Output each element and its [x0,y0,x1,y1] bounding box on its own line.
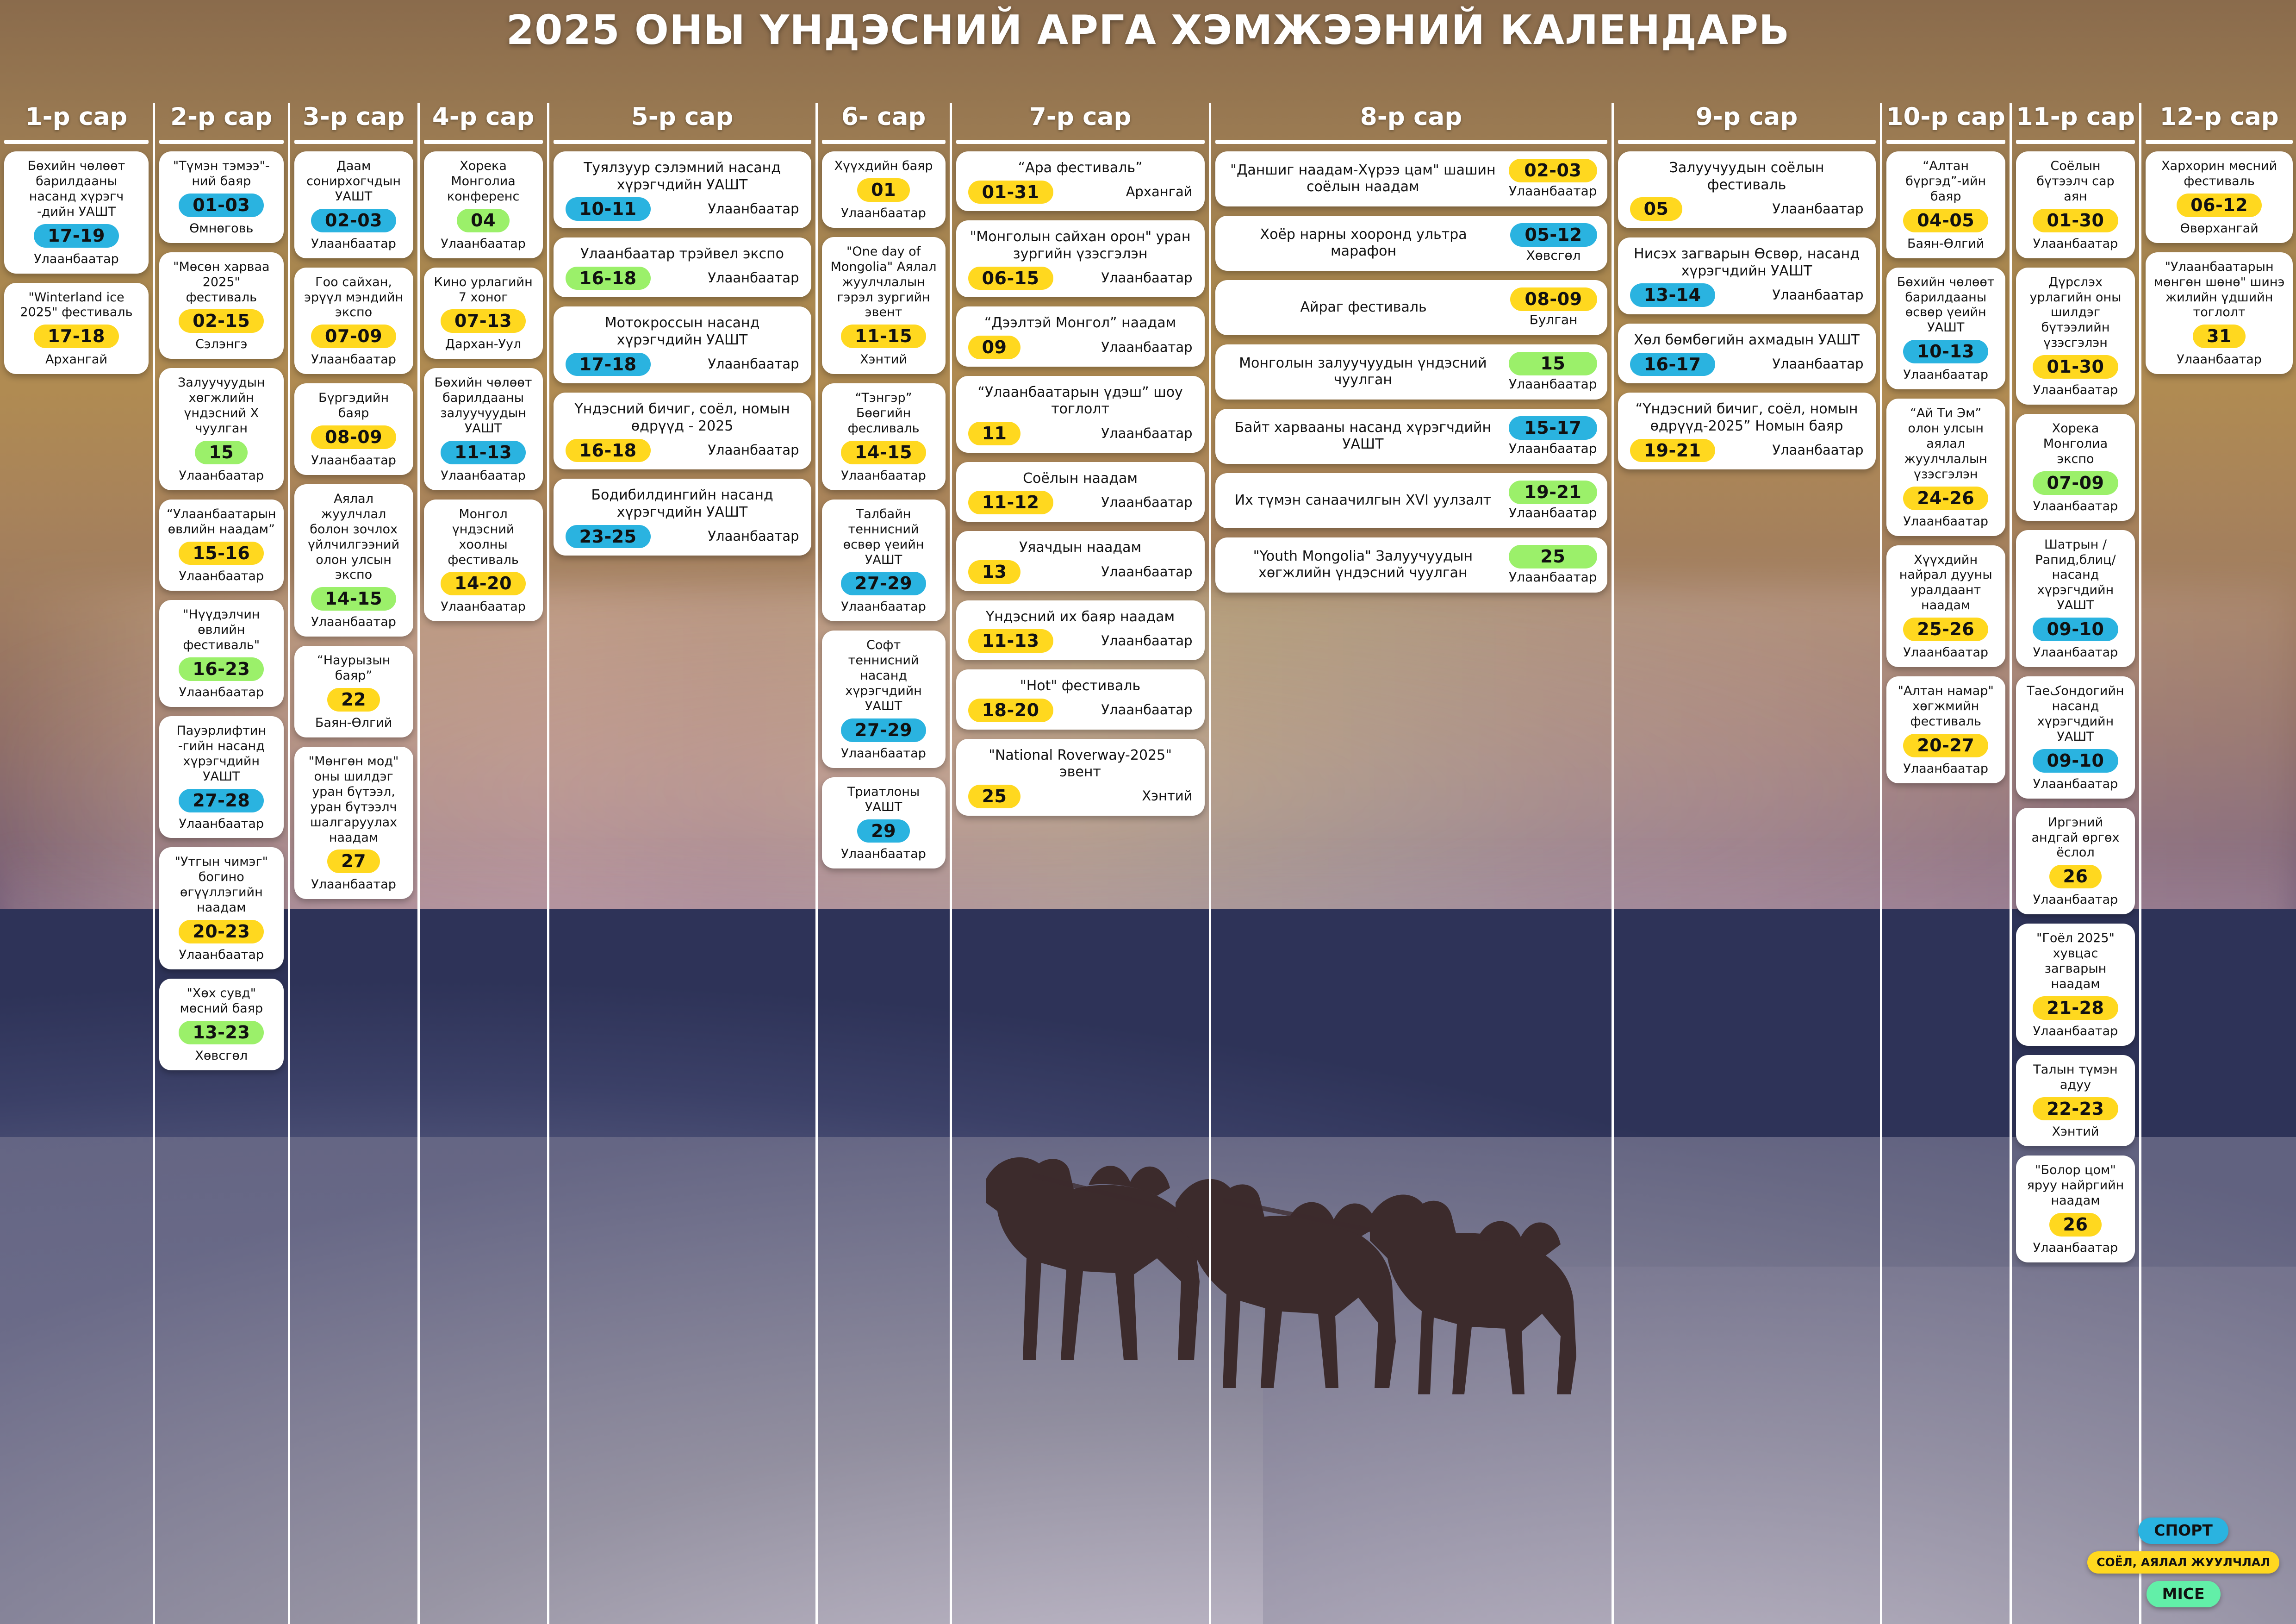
event-location: Улаанбаатар [1101,270,1192,286]
month-events-list: Даам сонирхогчдын УАШТ02-03УлаанбаатарГо… [294,151,413,899]
event-card[interactable]: Талын түмэн адуу22-23Хэнтий [2016,1055,2135,1147]
event-date-badge: 02-03 [1509,159,1597,182]
event-date-badge: 09-10 [2033,749,2118,773]
event-date-badge: 14-20 [441,572,526,595]
event-name: Хорека Монголиа конференс [431,159,535,205]
event-name: Бөхийн чөлөөт барилдааны насанд хүрэгч -… [12,159,141,220]
month-header-1: 1-р сар [4,103,149,137]
event-name: "Даншиг наадам-Хүрээ цам" шашин соёлын н… [1226,162,1501,196]
event-name: Их түмэн санаачилгын XVI уулзалт [1226,492,1501,509]
event-card[interactable]: "Алтан намар" хөгжмийн фестиваль20-27Ула… [1886,676,2005,783]
month-events-list: Соёлын бүтээлч сар аян01-30УлаанбаатарДү… [2016,151,2135,1262]
event-date-badge: 10-13 [1903,340,1988,363]
event-date-badge: 01-30 [2033,355,2118,379]
event-name: "Мөнгөн мод" оны шилдэг уран бүтээл, ура… [302,754,406,846]
month-header-4: 4-р сар [424,103,543,137]
event-date-badge: 04-05 [1903,209,1988,232]
event-date-badge: 26 [2049,865,2102,888]
event-card[interactable]: Бөхийн чөлөөт барилдааны өсвөр үеийн УАШ… [1886,268,2005,390]
event-date-badge: 07-09 [311,325,396,348]
month-header-8: 8-р сар [1215,103,1607,137]
event-location: Өмнөговь [167,221,276,237]
event-name: Кино урлагийн 7 хоног [431,275,535,306]
event-name: "Hot" фестиваль [968,678,1193,695]
event-card[interactable]: Дүрслэх урлагийн оны шилдэг бүтээлийн үз… [2016,268,2135,405]
event-card[interactable]: "National Roverway-2025" эвент25Хэнтий [956,739,1205,816]
event-card[interactable]: Иргэний андгай өргөх ёслол26Улаанбаатар [2016,808,2135,915]
month-column-4: 4-р сарХорека Монголиа конференс04Улаанб… [417,103,547,1624]
event-date-badge: 20-27 [1903,734,1988,757]
event-card[interactable]: “Дээлтэй Монгол” наадам09Улаанбаатар [956,306,1205,366]
event-date-badge: 13-23 [179,1021,264,1044]
event-date-badge: 02-03 [311,209,396,232]
event-name: Нисэх загварын Өсвөр, насанд хүрэгчдийн … [1630,246,1864,280]
event-location: Улаанбаатар [829,847,938,862]
event-card[interactable]: Кино урлагийн 7 хоног07-13Дархан-Уул [424,268,543,359]
event-name: Үндэсний их баяр наадам [968,609,1193,626]
event-card[interactable]: Даам сонирхогчдын УАШТ02-03Улаанбаатар [294,151,413,258]
event-date-badge: 27-28 [179,789,264,812]
event-card[interactable]: "One day of Mongolia" Аялал жуулчлалын г… [822,237,946,374]
event-date-badge: 22 [327,688,380,712]
event-name: “Үндэсний бичиг, соёл, номын өдрүүд-2025… [1630,401,1864,435]
event-location: Улаанбаатар [708,356,799,372]
month-header-divider [159,140,284,144]
event-name: "Алтан намар" хөгжмийн фестиваль [1894,684,1998,730]
month-header-5: 5-р сар [554,103,811,137]
month-header-divider [956,140,1205,144]
event-card[interactable]: Үндэсний их баяр наадам11-13Улаанбаатар [956,600,1205,660]
event-date-badge: 11-13 [441,441,526,464]
month-header-divider [1215,140,1607,144]
event-card[interactable]: Хүүхдийн баяр01Улаанбаатар [822,151,946,228]
event-card[interactable]: Триатлоны УАШТ29Улаанбаатар [822,777,946,869]
month-header-7: 7-р сар [956,103,1205,137]
event-location: Улаанбаатар [1894,514,1998,530]
event-name: "Түмэн тэмээ"-ний баяр [167,159,276,189]
month-column-7: 7-р сар“Ара фестиваль”01-31Архангай"Монг… [950,103,1209,1624]
month-header-divider [1618,140,1876,144]
event-location: Улаанбаатар [167,948,276,963]
event-date-badge: 19-21 [1630,439,1715,462]
event-date-badge: 18-20 [968,699,1053,722]
event-date-badge: 05-12 [1510,223,1597,247]
event-location: Улаанбаатар [1772,201,1863,217]
event-name: “Ара фестиваль” [968,160,1193,177]
month-header-divider [1886,140,2005,144]
event-name: Байт харвааны насанд хүрэгчдийн УАШТ [1226,419,1501,453]
event-card[interactable]: Байт харвааны насанд хүрэгчдийн УАШТ15-1… [1215,409,1607,464]
event-card[interactable]: Хорека Монголиа конференс04Улаанбаатар [424,151,543,258]
event-card[interactable]: Залуучуудын хөгжлийн үндэсний X чуулган1… [159,368,284,490]
event-location: Улаанбаатар [1509,569,1597,585]
event-location: Улаанбаатар [302,237,406,252]
event-location: Улаанбаатар [2023,237,2128,252]
event-location: Улаанбаатар [1772,356,1863,372]
event-location: Улаанбаатар [2023,1024,2128,1039]
event-name: Залуучуудын хөгжлийн үндэсний X чуулган [167,375,276,437]
event-location: Өвөрхангай [2153,221,2285,237]
event-name: Монголын залуучуудын үндэсний чуулган [1226,355,1501,389]
event-location: Улаанбаатар [2023,893,2128,908]
event-date-badge: 27-29 [841,718,926,742]
event-date-badge: 16-17 [1630,353,1715,376]
event-date-badge: 14-15 [311,587,396,611]
event-location: Хэнтий [2023,1124,2128,1140]
event-card[interactable]: “Үндэсний бичиг, соёл, номын өдрүүд-2025… [1618,393,1876,469]
event-date-badge: 05 [1630,197,1683,221]
event-name: Уяачдын наадам [968,539,1193,556]
month-header-6: 6- сар [822,103,946,137]
month-events-list: Хархорин мөсний фестиваль06-12Өвөрхангай… [2146,151,2293,374]
event-card[interactable]: Мотокроссын насанд хүрэгчдийн УАШТ17-18У… [554,306,811,383]
event-location: Улаанбаатар [708,528,799,544]
event-card[interactable]: "Хөх сувд" мөсний баяр13-23Хөвсгөл [159,979,284,1070]
event-location: Улаанбаатар [302,615,406,630]
event-name: Хорека Монголиа экспо [2023,421,2128,467]
event-card[interactable]: "Youth Mongolia" Залуучуудын хөгжлийн үн… [1215,537,1607,593]
event-name: "National Roverway-2025" эвент [968,747,1193,781]
event-card[interactable]: Монгол үндэсний хоолны фестиваль14-20Ула… [424,500,543,622]
event-location: Улаанбаатар [1101,564,1192,580]
event-date-badge: 06-12 [2177,194,2262,217]
month-column-5: 5-р сарТуялзуур сэлэмний насанд хүрэгчди… [547,103,815,1624]
event-card[interactable]: Монголын залуучуудын үндэсний чуулган15У… [1215,344,1607,400]
month-header-divider [424,140,543,144]
event-date-badge: 15-16 [179,542,264,565]
event-location: Улаанбаатар [1772,287,1863,303]
event-card[interactable]: Хөл бөмбөгийн ахмадын УАШТ16-17Улаанбаат… [1618,324,1876,383]
event-date-badge: 16-23 [179,657,264,681]
event-date-badge: 25 [968,785,1021,808]
month-header-11: 11-р сар [2016,103,2135,137]
event-location: Улаанбаатар [302,453,406,468]
event-date-badge: 15-17 [1509,416,1597,440]
event-location: Улаанбаатар [2023,645,2128,661]
event-date-badge: 13 [968,560,1021,584]
event-location: Улаанбаатар [2153,352,2285,368]
event-date-badge: 01-31 [968,181,1053,204]
event-card[interactable]: "Нүүдэлчин өвлийн фестиваль"16-23Улаанба… [159,600,284,707]
event-date-badge: 17-18 [566,353,651,376]
event-location: Улаанбаатар [1894,645,1998,661]
event-date-badge: 19-21 [1509,481,1597,504]
event-location: Улаанбаатар [829,746,938,762]
event-card[interactable]: Хорека Монголиа экспо07-09Улаанбаатар [2016,414,2135,521]
event-location: Улаанбаатар [12,252,141,267]
event-card[interactable]: “Ара фестиваль”01-31Архангай [956,151,1205,211]
event-card[interactable]: Хархорин мөсний фестиваль06-12Өвөрхангай [2146,151,2293,243]
event-name: Талын түмэн адуу [2023,1062,2128,1093]
event-date-badge: 15 [1509,352,1597,375]
event-location: Архангай [12,352,141,368]
month-header-divider [2146,140,2293,144]
event-location: Улаанбаатар [708,201,799,217]
event-location: Хэнтий [1142,788,1192,804]
event-card[interactable]: “Тэнгэр” Бөөгийн фесливаль14-15Улаанбаат… [822,383,946,490]
event-location: Улаанбаатар [1894,762,1998,777]
event-date-badge: 07-13 [441,309,526,333]
event-card[interactable]: "Монголын сайхан орон" уран зургийн үзэс… [956,220,1205,297]
event-name: Талбайн теннисний өсвөр үеийн УАШТ [829,507,938,568]
event-card[interactable]: “Ай Ти Эм” олон улсын аялал жуулчлалын ү… [1886,399,2005,536]
month-header-divider [4,140,149,144]
legend: СПОРТСОЁЛ, АЯЛАЛ ЖУУЛЧЛАЛMICE [2087,1518,2279,1607]
event-location: Улаанбаатар [708,442,799,458]
event-date-badge: 22-23 [2033,1097,2118,1121]
event-card[interactable]: Аялал жуулчлал болон зочлох үйлчилгээний… [294,484,413,637]
event-card[interactable]: Туялзуур сэлэмний насанд хүрэгчдийн УАШТ… [554,151,811,228]
event-date-badge: 23-25 [566,525,651,549]
month-header-divider [822,140,946,144]
event-name: “Улаанбаатарын өвлийн наадам” [167,507,276,537]
event-card[interactable]: Уяачдын наадам13Улаанбаатар [956,531,1205,591]
event-location: Сэлэнгэ [167,337,276,352]
event-card[interactable]: “Алтан бүргэд”-ийн баяр04-05Баян-Өлгий [1886,151,2005,258]
event-card[interactable]: Улаанбаатар трэйвел экспо16-18Улаанбаата… [554,237,811,297]
event-date-badge: 20-23 [179,920,264,943]
event-location: Улаанбаатар [2023,383,2128,398]
event-name: Мотокроссын насанд хүрэгчдийн УАШТ [566,315,799,349]
event-name: “Наурызын баяр” [302,653,406,684]
event-name: Бөхийн чөлөөт барилдааны залуучуудын УАШ… [431,375,535,437]
event-date-badge: 11 [968,422,1021,445]
event-name: “Ай Ти Эм” олон улсын аялал жуулчлалын ү… [1894,406,1998,482]
month-events-list: “Ара фестиваль”01-31Архангай"Монголын са… [956,151,1205,816]
event-name: "Winterland ice 2025" фестиваль [12,290,141,321]
event-card[interactable]: Соёлын бүтээлч сар аян01-30Улаанбаатар [2016,151,2135,258]
event-card[interactable]: Таеکондогийн насанд хүрэгчдийн УАШТ09-10… [2016,676,2135,799]
event-location: Улаанбаатар [431,600,535,615]
month-header-3: 3-р сар [294,103,413,137]
event-name: Үндэсний бичиг, соёл, номын өдрүүд - 202… [566,401,799,435]
event-date-badge: 07-09 [2033,471,2118,495]
event-card[interactable]: Шатрын /Рапид,блиц/ насанд хүрэгчдийн УА… [2016,530,2135,667]
event-name: “Тэнгэр” Бөөгийн фесливаль [829,391,938,437]
event-location: Улаанбаатар [1101,633,1192,649]
month-events-list: Залуучуудын соёлын фестиваль05Улаанбаата… [1618,151,1876,469]
event-date-badge: 16-18 [566,267,651,290]
event-location: Улаанбаатар [1772,442,1863,458]
event-date-badge: 06-15 [968,267,1053,290]
event-card[interactable]: "Улаанбаатарын мөнгөн шөнө" шинэ жилийн … [2146,252,2293,375]
event-location: Улаанбаатар [1509,183,1597,199]
month-header-10: 10-р сар [1886,103,2005,137]
event-location: Улаанбаатар [1101,494,1192,511]
month-events-list: Хүүхдийн баяр01Улаанбаатар"One day of Mo… [822,151,946,868]
event-date-badge: 17-19 [34,224,119,248]
event-name: Таеکондогийн насанд хүрэгчдийн УАШТ [2023,684,2128,745]
event-location: Улаанбаатар [431,468,535,484]
month-column-9: 9-р сарЗалуучуудын соёлын фестиваль05Ула… [1612,103,1880,1624]
event-date-badge: 24-26 [1903,487,1988,510]
event-location: Улаанбаатар [1101,339,1192,356]
month-events-list: "Даншиг наадам-Хүрээ цам" шашин соёлын н… [1215,151,1607,593]
event-date-badge: 01-03 [179,194,264,217]
page-title: 2025 ОНЫ ҮНДЭСНИЙ АРГА ХЭМЖЭЭНИЙ КАЛЕНДА… [0,6,2296,54]
month-header-12: 12-р сар [2146,103,2293,137]
event-card[interactable]: Нисэх загварын Өсвөр, насанд хүрэгчдийн … [1618,237,1876,314]
month-events-list: Хорека Монголиа конференс04УлаанбаатарКи… [424,151,543,621]
event-location: Улаанбаатар [167,468,276,484]
event-name: "Утгын чимэг" богино өгүүллэгийн наадам [167,855,276,916]
month-events-list: "Түмэн тэмээ"-ний баяр01-03Өмнөговь"Мөсө… [159,151,284,1070]
event-card[interactable]: Их түмэн санаачилгын XVI уулзалт19-21Ула… [1215,473,1607,528]
event-date-badge: 14-15 [841,441,926,464]
event-location: Улаанбаатар [1509,441,1597,456]
event-name: "Гоёл 2025" хувцас загварын наадам [2023,931,2128,992]
event-name: Иргэний андгай өргөх ёслол [2023,815,2128,861]
event-location: Улаанбаатар [302,352,406,368]
event-card[interactable]: Хоёр нарны хооронд ультра марафон05-12Хө… [1215,216,1607,271]
event-card[interactable]: "Түмэн тэмээ"-ний баяр01-03Өмнөговь [159,151,284,243]
event-name: Айраг фестиваль [1226,299,1502,316]
event-name: Хүүхдийн найрал дууны уралдаант наадам [1894,553,1998,614]
event-card[interactable]: "Hot" фестиваль18-20Улаанбаатар [956,669,1205,729]
event-card[interactable]: Бөхийн чөлөөт барилдааны насанд хүрэгч -… [4,151,149,274]
event-name: Туялзуур сэлэмний насанд хүрэгчдийн УАШТ [566,160,799,194]
event-name: Монгол үндэсний хоолны фестиваль [431,507,535,568]
month-header-9: 9-р сар [1618,103,1876,137]
event-name: Хоёр нарны хооронд ультра марафон [1226,226,1502,260]
month-column-2: 2-р сар"Түмэн тэмээ"-ний баяр01-03Өмнөго… [153,103,288,1624]
event-location: Дархан-Уул [431,337,535,352]
event-date-badge: 10-11 [566,197,651,221]
event-card[interactable]: "Утгын чимэг" богино өгүүллэгийн наадам2… [159,847,284,969]
event-card[interactable]: Үндэсний бичиг, соёл, номын өдрүүд - 202… [554,393,811,469]
event-name: Бөхийн чөлөөт барилдааны өсвөр үеийн УАШ… [1894,275,1998,336]
event-name: Хархорин мөсний фестиваль [2153,159,2285,189]
event-location: Улаанбаатар [2023,499,2128,514]
event-card[interactable]: "Мөсөн харваа 2025" фестиваль02-15Сэлэнг… [159,252,284,359]
event-card[interactable]: "Гоёл 2025" хувцас загварын наадам21-28У… [2016,924,2135,1046]
event-date-badge: 25 [1509,545,1597,568]
event-name: "One day of Mongolia" Аялал жуулчлалын г… [829,244,938,321]
event-location: Улаанбаатар [302,877,406,893]
month-column-6: 6- сарХүүхдийн баяр01Улаанбаатар"One day… [815,103,950,1624]
event-date-badge: 27-29 [841,572,926,595]
event-name: "Хөх сувд" мөсний баяр [167,986,276,1017]
event-name: Соёлын наадам [968,470,1193,487]
event-card[interactable]: “Улаанбаатарын өвлийн наадам”15-16Улаанб… [159,500,284,591]
event-card[interactable]: Айраг фестиваль08-09Булган [1215,280,1607,335]
event-card[interactable]: Хүүхдийн найрал дууны уралдаант наадам25… [1886,545,2005,668]
event-name: Шатрын /Рапид,блиц/ насанд хүрэгчдийн УА… [2023,537,2128,614]
event-location: Улаанбаатар [167,569,276,584]
event-date-badge: 26 [2049,1213,2102,1237]
event-name: Пауэрлифтин -гийн насанд хүрэгчдийн УАШТ [167,724,276,785]
event-date-badge: 11-15 [841,325,926,348]
event-card[interactable]: Пауэрлифтин -гийн насанд хүрэгчдийн УАШТ… [159,716,284,838]
month-header-divider [294,140,413,144]
event-card[interactable]: Залуучуудын соёлын фестиваль05Улаанбаата… [1618,151,1876,228]
event-card[interactable]: Талбайн теннисний өсвөр үеийн УАШТ27-29У… [822,500,946,622]
event-location: Улаанбаатар [431,237,535,252]
event-name: Бодибилдингийн насанд хүрэгчдийн УАШТ [566,487,799,521]
event-name: "Болор цом" яруу найргийн наадам [2023,1163,2128,1209]
event-name: Соёлын бүтээлч сар аян [2023,159,2128,205]
event-location: Улаанбаатар [1509,376,1597,392]
event-name: Гоо сайхан, эрүүл мэндийн экспо [302,275,406,321]
event-date-badge: 04 [457,209,510,232]
event-location: Булган [1510,312,1597,328]
event-location: Хөвсгөл [1510,248,1597,263]
event-name: Дүрслэх урлагийн оны шилдэг бүтээлийн үз… [2023,275,2128,351]
month-events-list: Бөхийн чөлөөт барилдааны насанд хүрэгч -… [4,151,149,374]
event-location: Хөвсгөл [167,1049,276,1064]
event-location: Баян-Өлгий [302,716,406,731]
calendar-grid: 1-р сарБөхийн чөлөөт барилдааны насанд х… [0,103,2296,1624]
event-card[interactable]: Софт теннисний насанд хүрэгчдийн УАШТ27-… [822,631,946,768]
event-location: Улаанбаатар [2023,1241,2128,1256]
event-date-badge: 16-18 [566,439,651,462]
event-date-badge: 01-30 [2033,209,2118,232]
event-card[interactable]: “Улаанбаатарын үдэш” шоу тоглолт11Улаанб… [956,376,1205,453]
month-column-10: 10-р сар“Алтан бүргэд”-ийн баяр04-05Баян… [1880,103,2010,1624]
event-location: Улаанбаатар [829,468,938,484]
event-location: Улаанбаатар [708,270,799,286]
event-name: “Алтан бүргэд”-ийн баяр [1894,159,1998,205]
event-location: Хэнтий [829,352,938,368]
event-date-badge: 31 [2193,325,2246,348]
event-date-badge: 08-09 [311,425,396,449]
event-date-badge: 15 [195,441,248,464]
event-location: Баян-Өлгий [1894,237,1998,252]
event-date-badge: 27 [327,849,380,873]
event-location: Улаанбаатар [1509,505,1597,521]
month-header-2: 2-р сар [159,103,284,137]
event-date-badge: 11-12 [968,491,1053,514]
event-name: Залуучуудын соёлын фестиваль [1630,160,1864,194]
legend-item-sport: СПОРТ [2138,1518,2228,1544]
event-location: Улаанбаатар [829,600,938,615]
event-name: Даам сонирхогчдын УАШТ [302,159,406,205]
event-card[interactable]: “Наурызын баяр”22Баян-Өлгий [294,646,413,737]
month-column-8: 8-р сар"Даншиг наадам-Хүрээ цам" шашин с… [1209,103,1612,1624]
event-date-badge: 08-09 [1510,287,1597,311]
event-card[interactable]: Бүргэдийн баяр08-09Улаанбаатар [294,383,413,475]
event-location: Архангай [1126,184,1193,200]
event-date-badge: 13-14 [1630,283,1715,307]
event-card[interactable]: Соёлын наадам11-12Улаанбаатар [956,462,1205,522]
event-card[interactable]: Бөхийн чөлөөт барилдааны залуучуудын УАШ… [424,368,543,490]
event-date-badge: 21-28 [2033,996,2118,1020]
event-location: Улаанбаатар [1894,368,1998,383]
event-name: "Нүүдэлчин өвлийн фестиваль" [167,607,276,653]
event-name: Бүргэдийн баяр [302,391,406,421]
event-card[interactable]: Бодибилдингийн насанд хүрэгчдийн УАШТ23-… [554,479,811,556]
event-location: Улаанбаатар [829,206,938,221]
event-card[interactable]: "Мөнгөн мод" оны шилдэг уран бүтээл, ура… [294,747,413,899]
event-card[interactable]: "Болор цом" яруу найргийн наадам26Улаанб… [2016,1156,2135,1262]
legend-item-mice: MICE [2147,1581,2221,1607]
month-events-list: Туялзуур сэлэмний насанд хүрэгчдийн УАШТ… [554,151,811,556]
event-card[interactable]: "Даншиг наадам-Хүрээ цам" шашин соёлын н… [1215,151,1607,206]
event-date-badge: 25-26 [1903,618,1988,641]
event-name: “Дээлтэй Монгол” наадам [968,315,1193,332]
event-card[interactable]: Гоо сайхан, эрүүл мэндийн экспо07-09Улаа… [294,268,413,375]
event-location: Улаанбаатар [2023,777,2128,792]
event-name: Хөл бөмбөгийн ахмадын УАШТ [1630,332,1864,349]
event-location: Улаанбаатар [1101,702,1192,718]
month-events-list: “Алтан бүргэд”-ийн баяр04-05Баян-ӨлгийБө… [1886,151,2005,783]
event-name: Триатлоны УАШТ [829,785,938,815]
event-date-badge: 01 [857,178,910,202]
event-date-badge: 17-18 [34,325,119,348]
event-date-badge: 09-10 [2033,618,2118,641]
event-card[interactable]: "Winterland ice 2025" фестиваль17-18Арха… [4,283,149,375]
event-name: Аялал жуулчлал болон зочлох үйлчилгээний… [302,492,406,583]
